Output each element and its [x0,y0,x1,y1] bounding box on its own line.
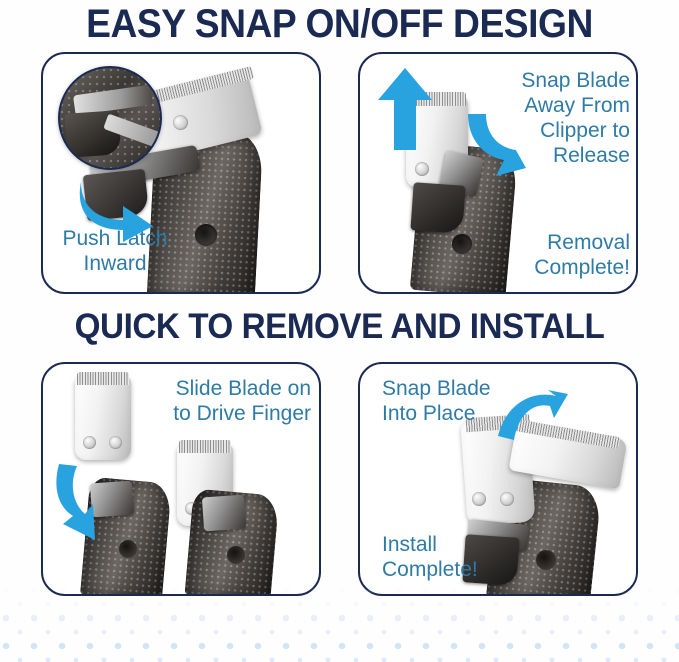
arrow-up-left-curved [458,112,530,176]
install-complete-caption: Install Complete! [382,532,532,582]
panel-snap-blade-away: Snap Blade Away From Clipper to Release … [358,52,638,294]
heading-quick-to-remove-and-install: QUICK TO REMOVE AND INSTALL [17,307,662,347]
clipper-thumb-hole [195,224,217,246]
arrow-down-curved [51,462,115,542]
thumb-hole-right [227,546,245,564]
blade-screw-left [472,492,486,506]
removal-complete-caption: Removal Complete! [472,230,630,280]
arrow-up [378,68,432,150]
clipper-latch-arm [410,182,465,234]
slide-blade-caption: Slide Blade on to Drive Finger [139,376,311,426]
clipper-thumb-hole [536,550,556,570]
arrow-right-curved [75,176,157,242]
magnifier-inset-latch-closeup [58,66,162,170]
blade-teeth-right [179,440,231,453]
blade-screw-left-b [109,436,122,449]
infographic-page: EASY SNAP ON/OFF DESIGN Push Latch In [0,0,679,662]
panel-slide-blade-on: Slide Blade on to Drive Finger [41,362,321,596]
detached-blade-left [75,376,131,460]
blade-teeth-left [77,372,129,385]
blade-screw-left-a [83,436,96,449]
blade-screw-right [500,492,514,506]
clipper-thumb-hole [452,234,472,254]
arrow-right-down-curved [498,390,568,442]
panel-snap-blade-into-place: Snap Blade Into Place Install Complete! [358,362,638,596]
blade-screw-left [415,162,429,176]
heading-easy-snap-on-off-design: EASY SNAP ON/OFF DESIGN [24,2,655,47]
thumb-hole-left [119,540,137,558]
panel-push-latch-inward: Push Latch Inward [41,52,321,294]
drive-finger-right [202,495,246,532]
